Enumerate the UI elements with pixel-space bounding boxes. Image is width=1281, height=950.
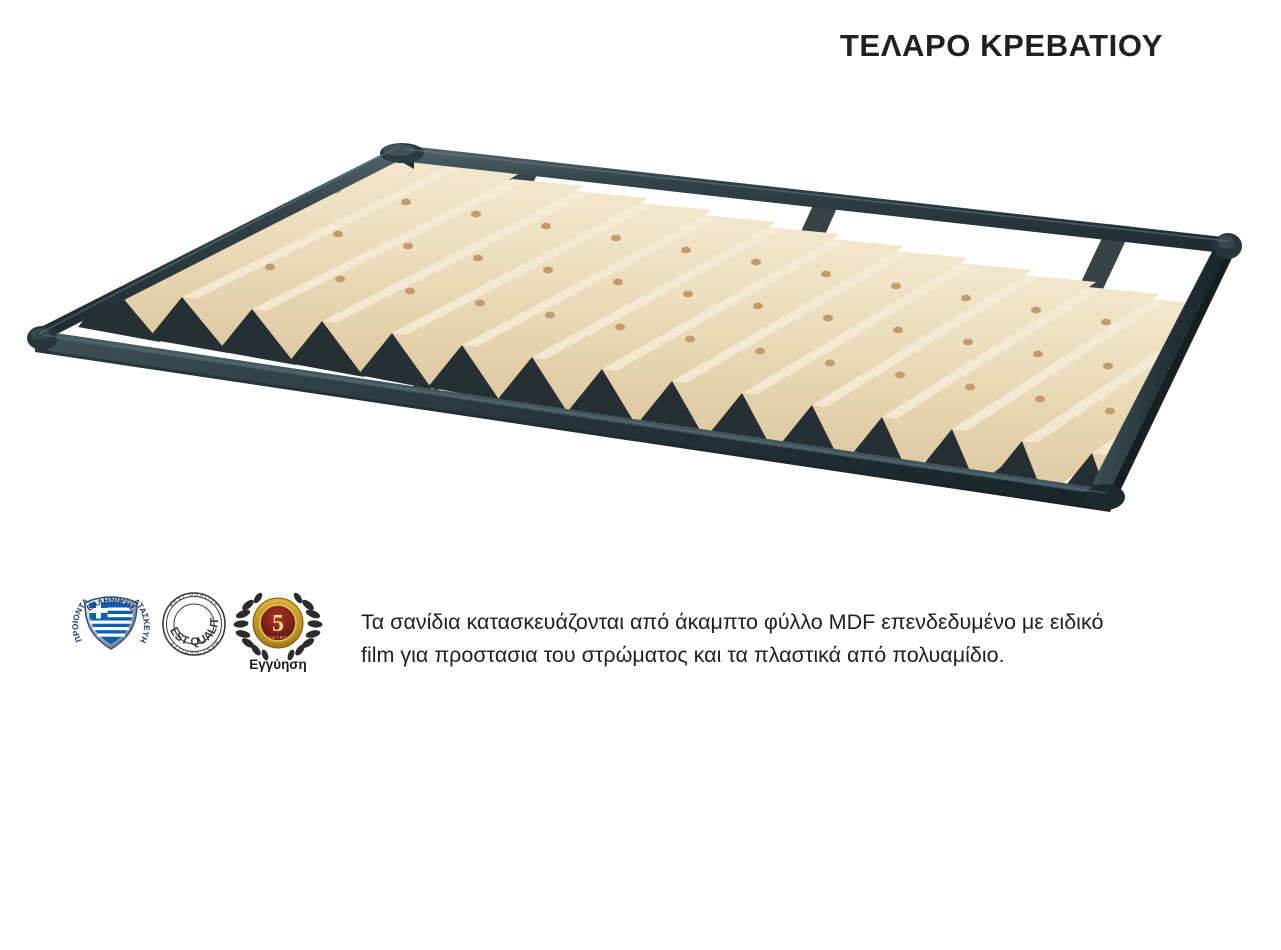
warranty-label: Εγγύηση bbox=[249, 657, 307, 672]
warranty-years-number: 5 bbox=[272, 611, 284, 637]
description-line-2: film για προστασια του στρώματος και τα … bbox=[361, 639, 1251, 672]
warranty-badge: 5 YEARS Εγγύηση bbox=[232, 583, 324, 673]
bed-frame-illustration bbox=[0, 95, 1281, 525]
certification-badges: ΕΛΛΗΝΙΚΗΣ ΠΡΟΪΟΝΤΑ ΚΑΤΑΣΚΕΥΗΣ bbox=[72, 583, 324, 675]
product-image bbox=[0, 95, 1281, 525]
greek-products-badge: ΕΛΛΗΝΙΚΗΣ ΠΡΟΪΟΝΤΑ ΚΑΤΑΣΚΕΥΗΣ bbox=[72, 583, 150, 671]
badge-quality-ring-top: BEST QUALITY bbox=[169, 592, 220, 609]
slat-group bbox=[78, 154, 1281, 509]
page-title: ΤΕΛΑΡΟ ΚΡΕΒΑΤΙΟΥ bbox=[840, 28, 1163, 64]
warranty-years-word: YEARS bbox=[269, 635, 288, 640]
description-line-1: Τα σανίδια κατασκευάζονται από άκαμπτο φ… bbox=[361, 606, 1251, 639]
best-quality-badge: BEST QUALITY BEST QUALITY BEST QUALITY bbox=[158, 583, 230, 671]
product-description: Τα σανίδια κατασκευάζονται από άκαμπτο φ… bbox=[361, 606, 1251, 672]
